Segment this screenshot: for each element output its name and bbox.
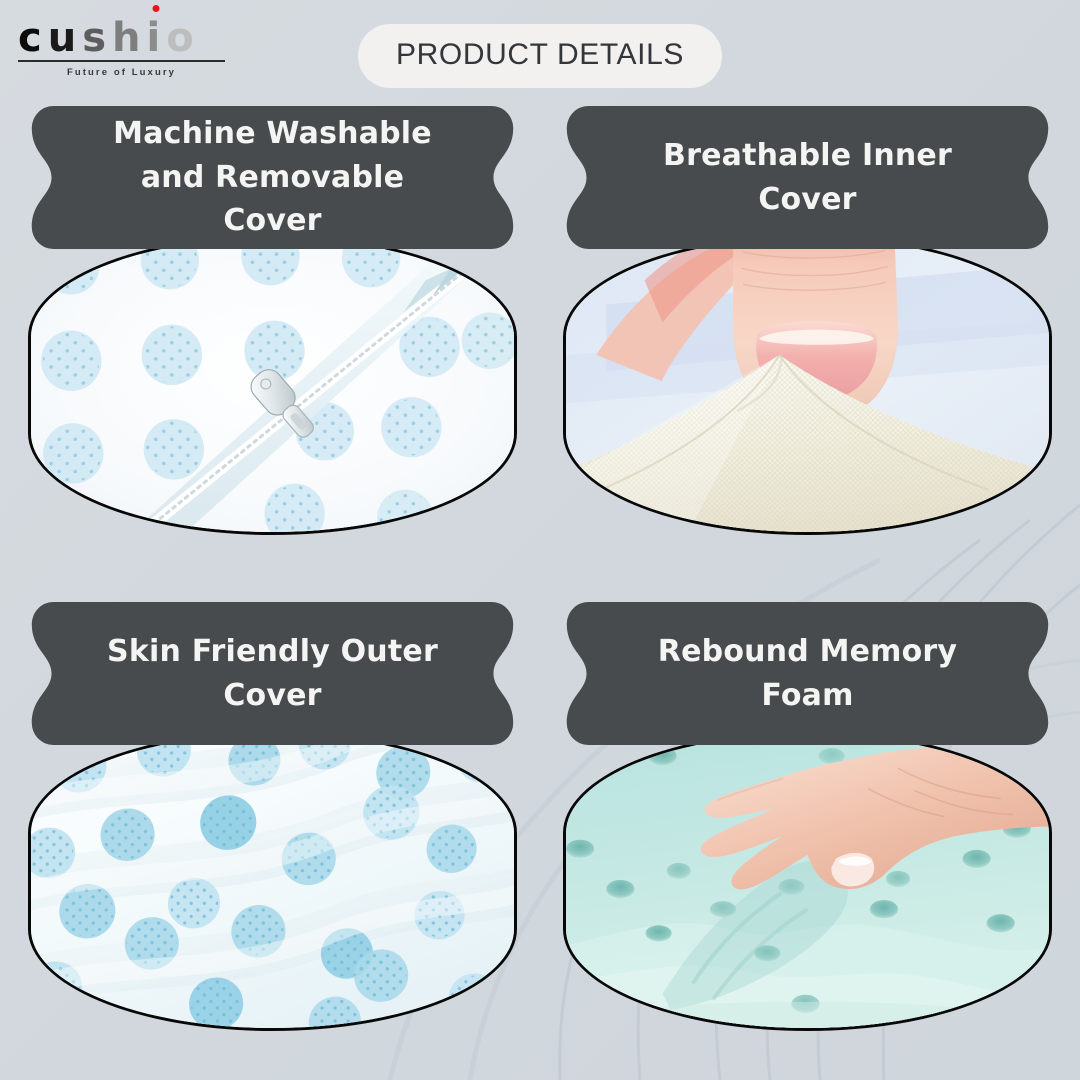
logo-letter-s: s — [82, 18, 112, 58]
logo-red-dot-icon — [153, 5, 160, 12]
logo-letter-h: h — [112, 18, 146, 58]
feature-title: Machine Washable and Removable Cover — [16, 106, 529, 249]
feature-card-skin-friendly-outer-cover: Skin Friendly Outer Cover — [16, 602, 529, 1066]
page-title: PRODUCT DETAILS — [358, 24, 722, 88]
feature-image-quilted-fabric — [28, 731, 517, 1031]
feature-banner: Skin Friendly Outer Cover — [16, 602, 529, 745]
feature-card-breathable-inner-cover: Breathable Inner Cover — [551, 106, 1064, 570]
brand-logo: c u s h i o Future of Luxury — [18, 18, 233, 78]
feature-image-zipper-fabric — [28, 235, 517, 535]
feature-image-memory-foam — [563, 731, 1052, 1031]
logo-letter-i-stem: i — [147, 18, 167, 58]
brand-wordmark: c u s h i o — [18, 18, 233, 58]
logo-tagline: Future of Luxury — [18, 67, 225, 78]
feature-banner: Rebound Memory Foam — [551, 602, 1064, 745]
feature-title: Skin Friendly Outer Cover — [16, 602, 529, 745]
feature-image-finger-mesh — [563, 235, 1052, 535]
feature-banner: Breathable Inner Cover — [551, 106, 1064, 249]
feature-title: Rebound Memory Foam — [551, 602, 1064, 745]
feature-grid: Machine Washable and Removable Cover — [0, 100, 1080, 1080]
feature-title: Breathable Inner Cover — [551, 106, 1064, 249]
logo-letter-u: u — [48, 18, 82, 58]
logo-letter-c: c — [18, 18, 48, 58]
page-header: c u s h i o Future of Luxury PRODUCT DET… — [0, 0, 1080, 100]
feature-card-rebound-memory-foam: Rebound Memory Foam — [551, 602, 1064, 1066]
logo-letter-o: o — [166, 18, 199, 58]
logo-letter-i: i — [147, 18, 167, 58]
feature-card-machine-washable-removable-cover: Machine Washable and Removable Cover — [16, 106, 529, 570]
feature-banner: Machine Washable and Removable Cover — [16, 106, 529, 249]
